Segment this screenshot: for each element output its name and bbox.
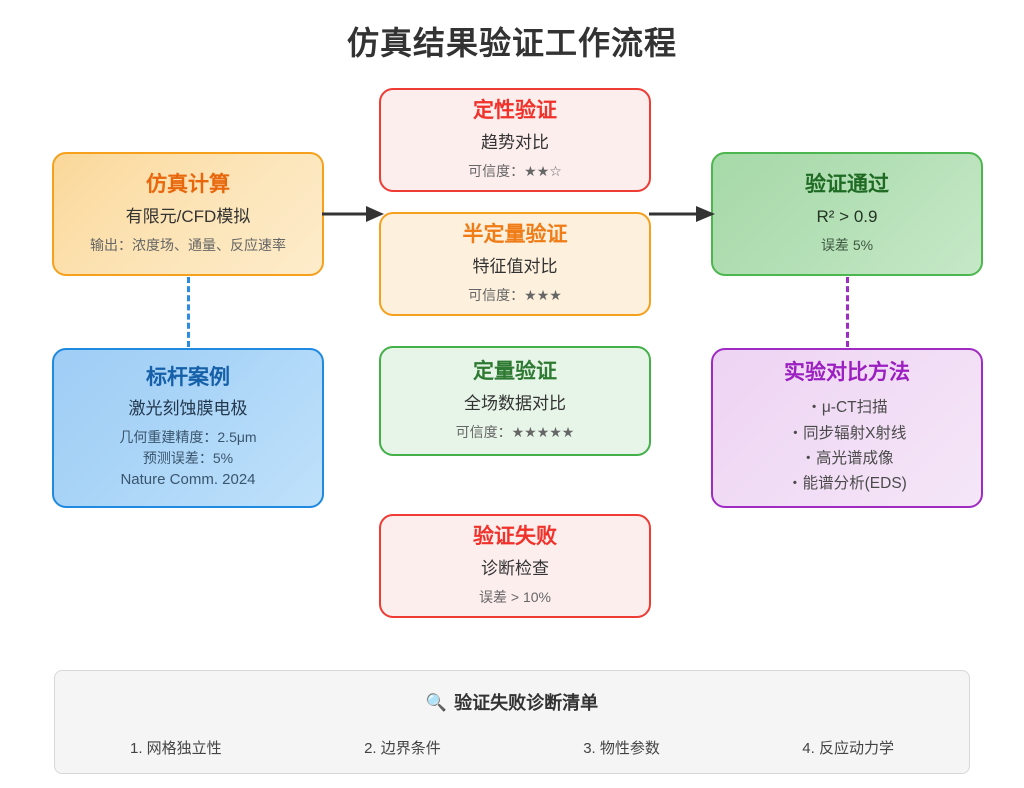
checklist-item[interactable]: 2. 边界条件 [364, 737, 441, 758]
node-benchmark-citation: Nature Comm. 2024 [120, 469, 255, 492]
magnifier-icon: 🔍 [426, 694, 447, 711]
node-quantitative-title: 定量验证 [473, 359, 557, 385]
checklist-title: 🔍 验证失败诊断清单 [426, 689, 598, 715]
checklist-items: 1. 网格独立性 2. 边界条件 3. 物性参数 4. 反应动力学 [112, 737, 912, 758]
arrow-semiquantitative-to-passed [649, 203, 715, 225]
node-quantitative-validation[interactable]: 定量验证 全场数据对比 可信度：★★★★★ [379, 346, 651, 456]
node-semiquantitative-subtitle: 特征值对比 [473, 256, 558, 279]
checklist-title-text: 验证失败诊断清单 [454, 689, 598, 715]
node-benchmark-error: 预测误差：5% [143, 448, 233, 469]
node-simulation-title: 仿真计算 [146, 172, 230, 198]
node-passed-title: 验证通过 [805, 172, 889, 198]
node-benchmark-case[interactable]: 标杆案例 激光刻蚀膜电极 几何重建精度：2.5μm 预测误差：5% Nature… [52, 348, 324, 508]
dashed-connector-simulation-benchmark [187, 277, 190, 347]
dashed-connector-passed-experiment [846, 277, 849, 347]
node-simulation-meta: 输出：浓度场、通量、反应速率 [90, 235, 286, 256]
arrow-simulation-to-semiquantitative [322, 203, 384, 225]
node-quantitative-subtitle: 全场数据对比 [464, 393, 566, 416]
checklist-item[interactable]: 1. 网格独立性 [130, 737, 222, 758]
node-semiquantitative-confidence: 可信度：★★★ [468, 285, 562, 306]
node-experiment-title: 实验对比方法 [784, 360, 910, 386]
node-simulation[interactable]: 仿真计算 有限元/CFD模拟 输出：浓度场、通量、反应速率 [52, 152, 324, 276]
node-simulation-subtitle: 有限元/CFD模拟 [126, 206, 251, 229]
node-benchmark-subtitle: 激光刻蚀膜电极 [129, 398, 248, 421]
node-validation-failed[interactable]: 验证失败 诊断检查 误差 > 10% [379, 514, 651, 618]
node-experiment-bullet: ・同步辐射X射线 [788, 421, 907, 446]
node-failed-meta: 误差 > 10% [479, 587, 551, 608]
node-experiment-bullet: ・高光谱成像 [800, 446, 893, 471]
node-semiquantitative-title: 半定量验证 [463, 222, 568, 248]
checklist-item[interactable]: 3. 物性参数 [583, 737, 660, 758]
diagram-canvas: 仿真结果验证工作流程 仿真计算 有限元/CFD模拟 输出：浓度场、通量、反应速率… [0, 0, 1024, 788]
page-title: 仿真结果验证工作流程 [0, 18, 1024, 64]
node-qualitative-subtitle: 趋势对比 [481, 132, 549, 155]
node-experiment-bullet: ・μ-CT扫描 [806, 395, 887, 420]
node-failed-title: 验证失败 [473, 524, 557, 550]
node-benchmark-title: 标杆案例 [146, 365, 230, 391]
checklist-item[interactable]: 4. 反应动力学 [802, 737, 894, 758]
node-experimental-methods[interactable]: 实验对比方法 ・μ-CT扫描 ・同步辐射X射线 ・高光谱成像 ・能谱分析(EDS… [711, 348, 983, 508]
node-qualitative-title: 定性验证 [473, 98, 557, 124]
node-quantitative-confidence: 可信度：★★★★★ [456, 422, 575, 443]
node-failed-subtitle: 诊断检查 [481, 558, 549, 581]
node-qualitative-confidence: 可信度：★★☆ [468, 161, 562, 182]
node-benchmark-accuracy: 几何重建精度：2.5μm [119, 427, 256, 448]
node-validation-passed[interactable]: 验证通过 R² > 0.9 误差 5% [711, 152, 983, 276]
node-experiment-bullet: ・能谱分析(EDS) [787, 471, 907, 496]
node-qualitative-validation[interactable]: 定性验证 趋势对比 可信度：★★☆ [379, 88, 651, 192]
node-passed-meta: 误差 5% [821, 235, 873, 256]
node-semiquantitative-validation[interactable]: 半定量验证 特征值对比 可信度：★★★ [379, 212, 651, 316]
node-passed-subtitle: R² > 0.9 [817, 206, 878, 229]
diagnostic-checklist-panel: 🔍 验证失败诊断清单 1. 网格独立性 2. 边界条件 3. 物性参数 4. 反… [54, 670, 970, 774]
